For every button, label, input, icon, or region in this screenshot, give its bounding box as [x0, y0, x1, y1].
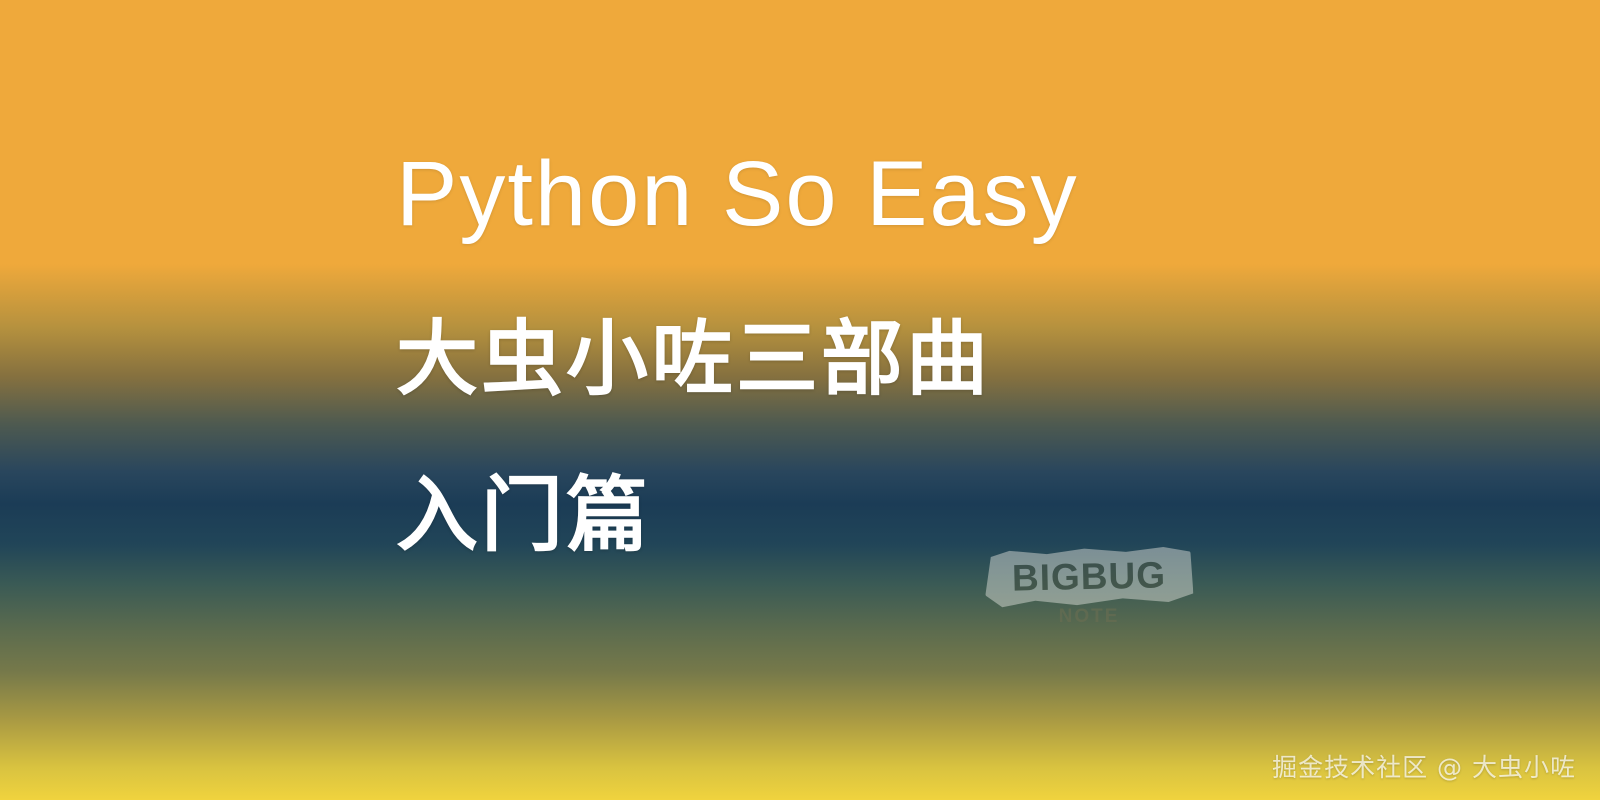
page-title-english: Python So Easy — [396, 140, 1216, 248]
title-spacer-1 — [396, 248, 1216, 312]
logo-wordmark: BIGBUG — [984, 546, 1193, 608]
title-text-block: Python So Easy 大虫小咗三部曲 入门篇 — [396, 140, 1216, 564]
title-spacer-2 — [396, 408, 1216, 468]
community-watermark: 掘金技术社区 @ 大虫小咗 — [1272, 748, 1576, 784]
bigbug-note-logo: BIGBUG NOTE — [985, 548, 1205, 648]
page-subtitle-chinese-primary: 大虫小咗三部曲 — [396, 312, 1216, 408]
banner-cover: Python So Easy 大虫小咗三部曲 入门篇 BIGBUG NOTE 掘… — [0, 0, 1600, 800]
logo-subtext: NOTE — [985, 606, 1193, 628]
